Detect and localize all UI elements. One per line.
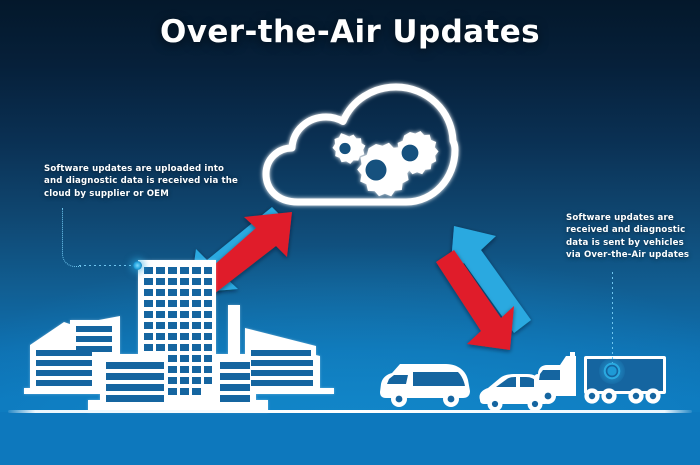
caption-right: Software updates are received and diagno… [566, 212, 690, 262]
gear-icons [332, 131, 438, 196]
van-graphic [378, 358, 474, 412]
cloud-graphic [262, 84, 462, 214]
leader-line-left-horizontal [79, 265, 137, 266]
node-marker-buildings [133, 261, 142, 270]
leader-line-right-vertical [612, 272, 613, 364]
truck-graphic [530, 350, 670, 414]
infographic-canvas: Over-the-Air Updates [0, 0, 700, 465]
leader-line-left-corner [62, 208, 81, 267]
background-bottom-band [0, 412, 700, 465]
city-buildings-graphic [20, 250, 340, 415]
ground-line [8, 410, 692, 413]
caption-left: Software updates are uploaded into and d… [44, 163, 240, 200]
node-marker-truck [599, 358, 625, 384]
page-title: Over-the-Air Updates [0, 14, 700, 50]
